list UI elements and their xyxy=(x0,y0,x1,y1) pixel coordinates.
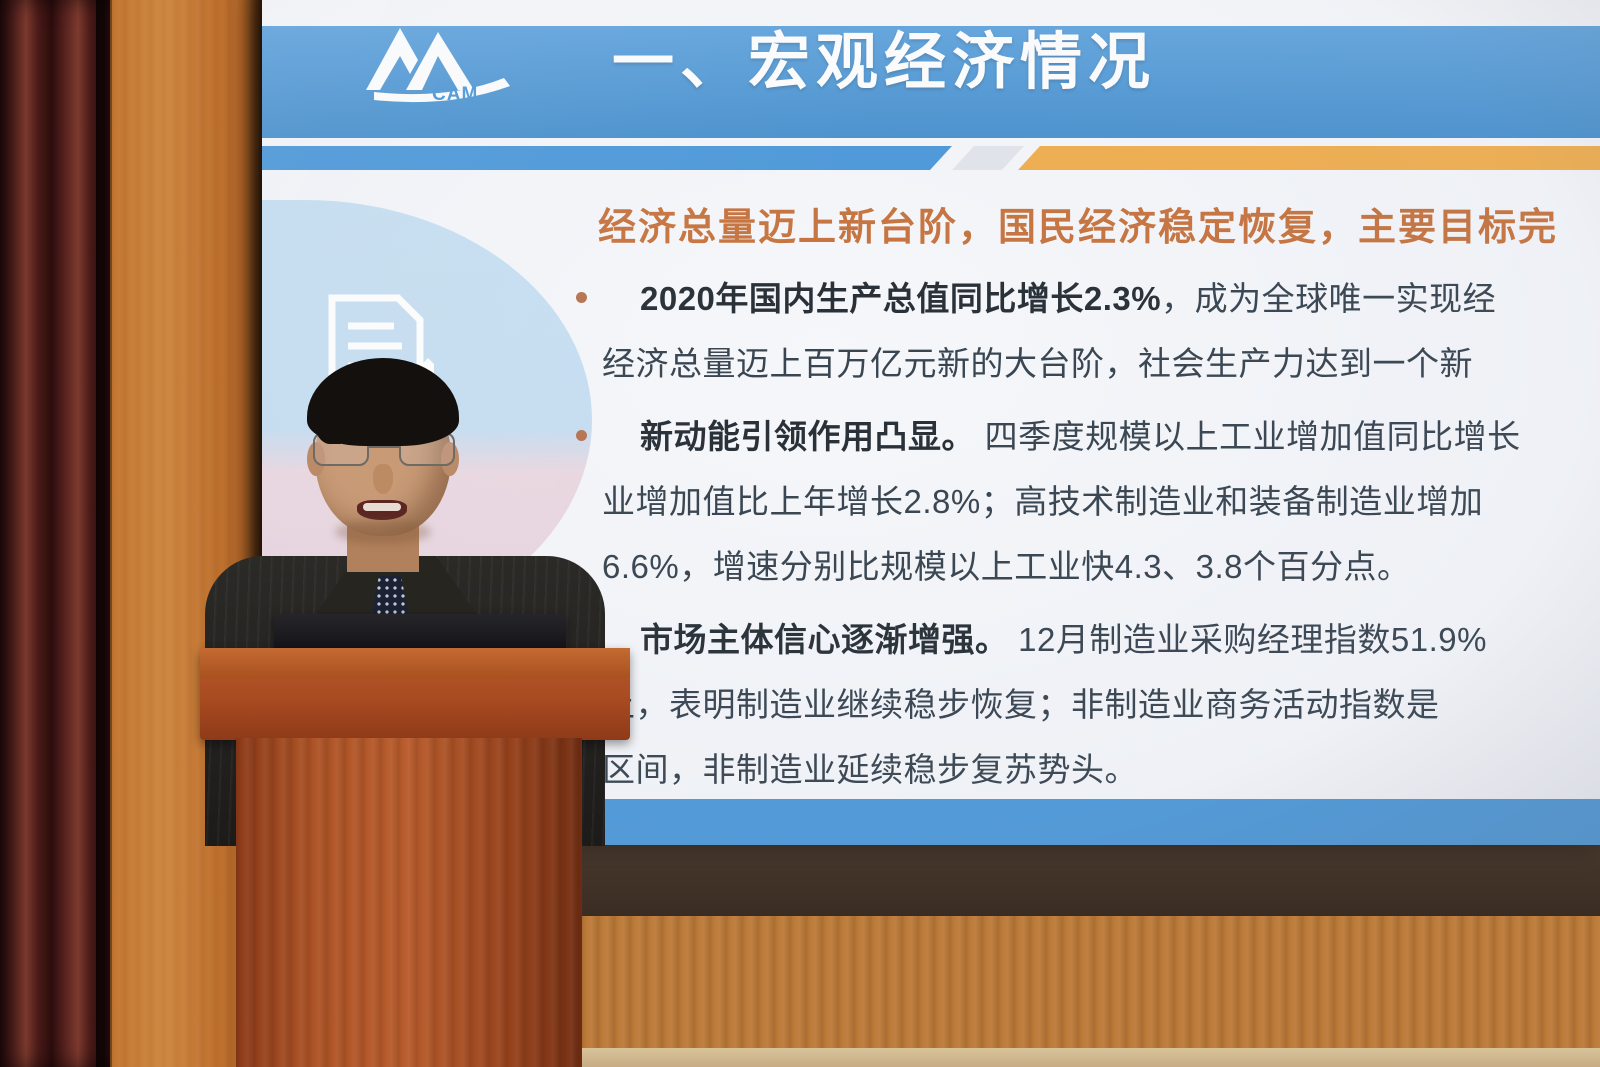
bullet-item: 市场主体信心逐渐增强。 12月制造业采购经理指数51.9% 上，表明制造业继续稳… xyxy=(562,607,1600,802)
conference-hall-scene: CAM 一、宏观经济情况 观 经济总量迈上新台阶，国民经济稳定恢复，主要目标完 xyxy=(0,0,1600,1067)
bullet-dot-icon xyxy=(576,292,587,303)
bullet-line: 新动能引领作用凸显。 四季度规模以上工业增加值同比增长 xyxy=(562,404,1600,469)
podium-body xyxy=(236,738,582,1067)
accent-stripe-row xyxy=(262,146,1600,170)
bullet-bold-text: 新动能引领作用凸显。 xyxy=(640,418,975,455)
glasses-bridge xyxy=(369,446,399,448)
cam-mountain-logo: CAM xyxy=(354,16,544,104)
slide-title: 一、宏观经济情况 xyxy=(612,20,1156,106)
bullet-rest-text: 四季度规模以上工业增加值同比增长 xyxy=(975,418,1521,455)
bullet-bold-text: 2020年国内生产总值同比增长2.3% xyxy=(640,280,1161,317)
nose xyxy=(373,464,393,494)
podium-grain-texture xyxy=(236,738,582,1067)
bullet-line: 经济总量迈上百万亿元新的大台阶，社会生产力达到一个新 xyxy=(562,331,1600,396)
podium-top-face xyxy=(200,648,630,678)
bullet-item: 新动能引领作用凸显。 四季度规模以上工业增加值同比增长 业增加值比上年增长2.8… xyxy=(562,404,1600,599)
slide-body: 2020年国内生产总值同比增长2.3%，成为全球唯一实现经 经济总量迈上百万亿元… xyxy=(562,266,1600,810)
svg-text:CAM: CAM xyxy=(432,84,478,104)
bullet-line: 上，表明制造业继续稳步恢复；非制造业商务活动指数是 xyxy=(562,672,1600,737)
bullet-line: 6.6%，增速分别比规模以上工业快4.3、3.8个百分点。 xyxy=(562,534,1600,599)
bullet-rest-text: 6.6%，增速分别比规模以上工业快4.3、3.8个百分点。 xyxy=(602,548,1410,585)
bullet-line: 市场主体信心逐渐增强。 12月制造业采购经理指数51.9% xyxy=(562,607,1600,672)
accent-stripe-grey xyxy=(952,146,1024,170)
chin-shadow xyxy=(335,520,431,544)
slide-subtitle: 经济总量迈上新台阶，国民经济稳定恢复，主要目标完 xyxy=(598,196,1558,251)
podium xyxy=(200,620,630,1067)
accent-stripe-orange xyxy=(1018,146,1600,170)
bullet-line: 业增加值比上年增长2.8%；高技术制造业和装备制造业增加 xyxy=(562,469,1600,534)
bullet-bold-text: 市场主体信心逐渐增强。 xyxy=(640,621,1009,658)
bullet-rest-text: 区间，非制造业延续稳步复苏势头。 xyxy=(602,751,1138,788)
bullet-rest-text: 上，表明制造业继续稳步恢复；非制造业商务活动指数是 xyxy=(602,686,1440,723)
stage-curtain xyxy=(0,0,110,1067)
mouth xyxy=(357,500,407,520)
bullet-rest-text: ，成为全球唯一实现经 xyxy=(1161,280,1496,317)
bullet-rest-text: 经济总量迈上百万亿元新的大台阶，社会生产力达到一个新 xyxy=(602,345,1473,382)
bullet-line: 区间，非制造业延续稳步复苏势头。 xyxy=(562,737,1600,802)
bullet-line: 2020年国内生产总值同比增长2.3%，成为全球唯一实现经 xyxy=(562,266,1600,331)
bullet-item: 2020年国内生产总值同比增长2.3%，成为全球唯一实现经 经济总量迈上百万亿元… xyxy=(562,266,1600,396)
bullet-rest-text: 12月制造业采购经理指数51.9% xyxy=(1009,621,1487,658)
bullet-rest-text: 业增加值比上年增长2.8%；高技术制造业和装备制造业增加 xyxy=(602,483,1483,520)
accent-stripe-blue xyxy=(262,146,952,170)
podium-top-surface xyxy=(200,648,630,740)
